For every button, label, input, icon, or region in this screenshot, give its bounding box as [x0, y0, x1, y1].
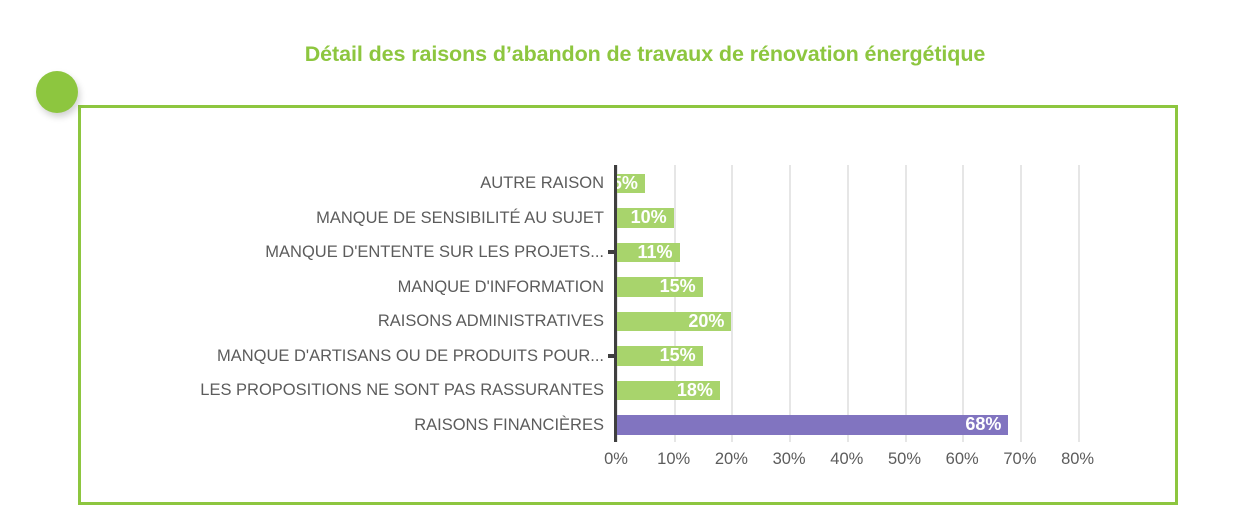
x-axis-tick-label: 20% — [703, 450, 759, 469]
plot-area: AUTRE RAISON 5% MANQUE DE SENSIBILITÉ AU… — [616, 166, 1141, 461]
bar-row: AUTRE RAISON 5% — [616, 166, 1141, 201]
bar[interactable]: 5% — [616, 174, 645, 194]
bar-value-label: 15% — [660, 277, 696, 297]
bar-row: MANQUE DE SENSIBILITÉ AU SUJET 10% — [616, 201, 1141, 236]
bar-row: RAISONS ADMINISTRATIVES 20% — [616, 304, 1141, 339]
bar[interactable]: 15% — [616, 346, 703, 366]
value-axis-line — [614, 165, 617, 442]
bar-value-label: 15% — [660, 346, 696, 366]
category-label: MANQUE D'INFORMATION — [398, 270, 604, 305]
bar[interactable]: 20% — [616, 312, 731, 332]
bar[interactable]: 11% — [616, 243, 680, 263]
category-label: MANQUE DE SENSIBILITÉ AU SUJET — [316, 201, 604, 236]
chart-title: Détail des raisons d’abandon de travaux … — [0, 42, 1260, 67]
bar[interactable]: 15% — [616, 277, 703, 297]
x-axis-tick-label: 50% — [877, 450, 933, 469]
bar[interactable]: 10% — [616, 208, 674, 228]
x-axis-tick-label: 40% — [819, 450, 875, 469]
bar-row: RAISONS FINANCIÈRES 68% — [616, 408, 1141, 443]
bar-value-label: 20% — [688, 312, 724, 332]
bar-value-label: 5% — [616, 174, 638, 194]
bar-value-label: 18% — [677, 381, 713, 401]
bar-row: MANQUE D'ARTISANS OU DE PRODUITS POUR...… — [616, 339, 1141, 374]
x-axis-tick-label: 70% — [992, 450, 1048, 469]
category-label: RAISONS FINANCIÈRES — [414, 408, 604, 443]
category-label: LES PROPOSITIONS NE SONT PAS RASSURANTES — [200, 373, 604, 408]
chart-frame: AUTRE RAISON 5% MANQUE DE SENSIBILITÉ AU… — [78, 105, 1178, 505]
x-axis-tick-label: 30% — [761, 450, 817, 469]
bar-row: MANQUE D'ENTENTE SUR LES PROJETS... 11% — [616, 235, 1141, 270]
x-axis-tick-label: 80% — [1050, 450, 1106, 469]
category-label: MANQUE D'ENTENTE SUR LES PROJETS... — [265, 235, 604, 270]
bar[interactable]: 68% — [616, 415, 1008, 435]
category-label: MANQUE D'ARTISANS OU DE PRODUITS POUR... — [217, 339, 604, 374]
bar-row: LES PROPOSITIONS NE SONT PAS RASSURANTES… — [616, 373, 1141, 408]
x-axis-tick-label: 60% — [934, 450, 990, 469]
bar-value-label: 68% — [965, 415, 1001, 435]
bar-value-label: 10% — [631, 208, 667, 228]
bar-value-label: 11% — [637, 243, 672, 263]
category-label: AUTRE RAISON — [480, 166, 604, 201]
decorative-green-dot — [36, 71, 78, 113]
bar-row: MANQUE D'INFORMATION 15% — [616, 270, 1141, 305]
x-axis-tick-label: 0% — [588, 450, 644, 469]
x-axis-tick-label: 10% — [646, 450, 702, 469]
bar[interactable]: 18% — [616, 381, 720, 401]
category-label: RAISONS ADMINISTRATIVES — [378, 304, 604, 339]
